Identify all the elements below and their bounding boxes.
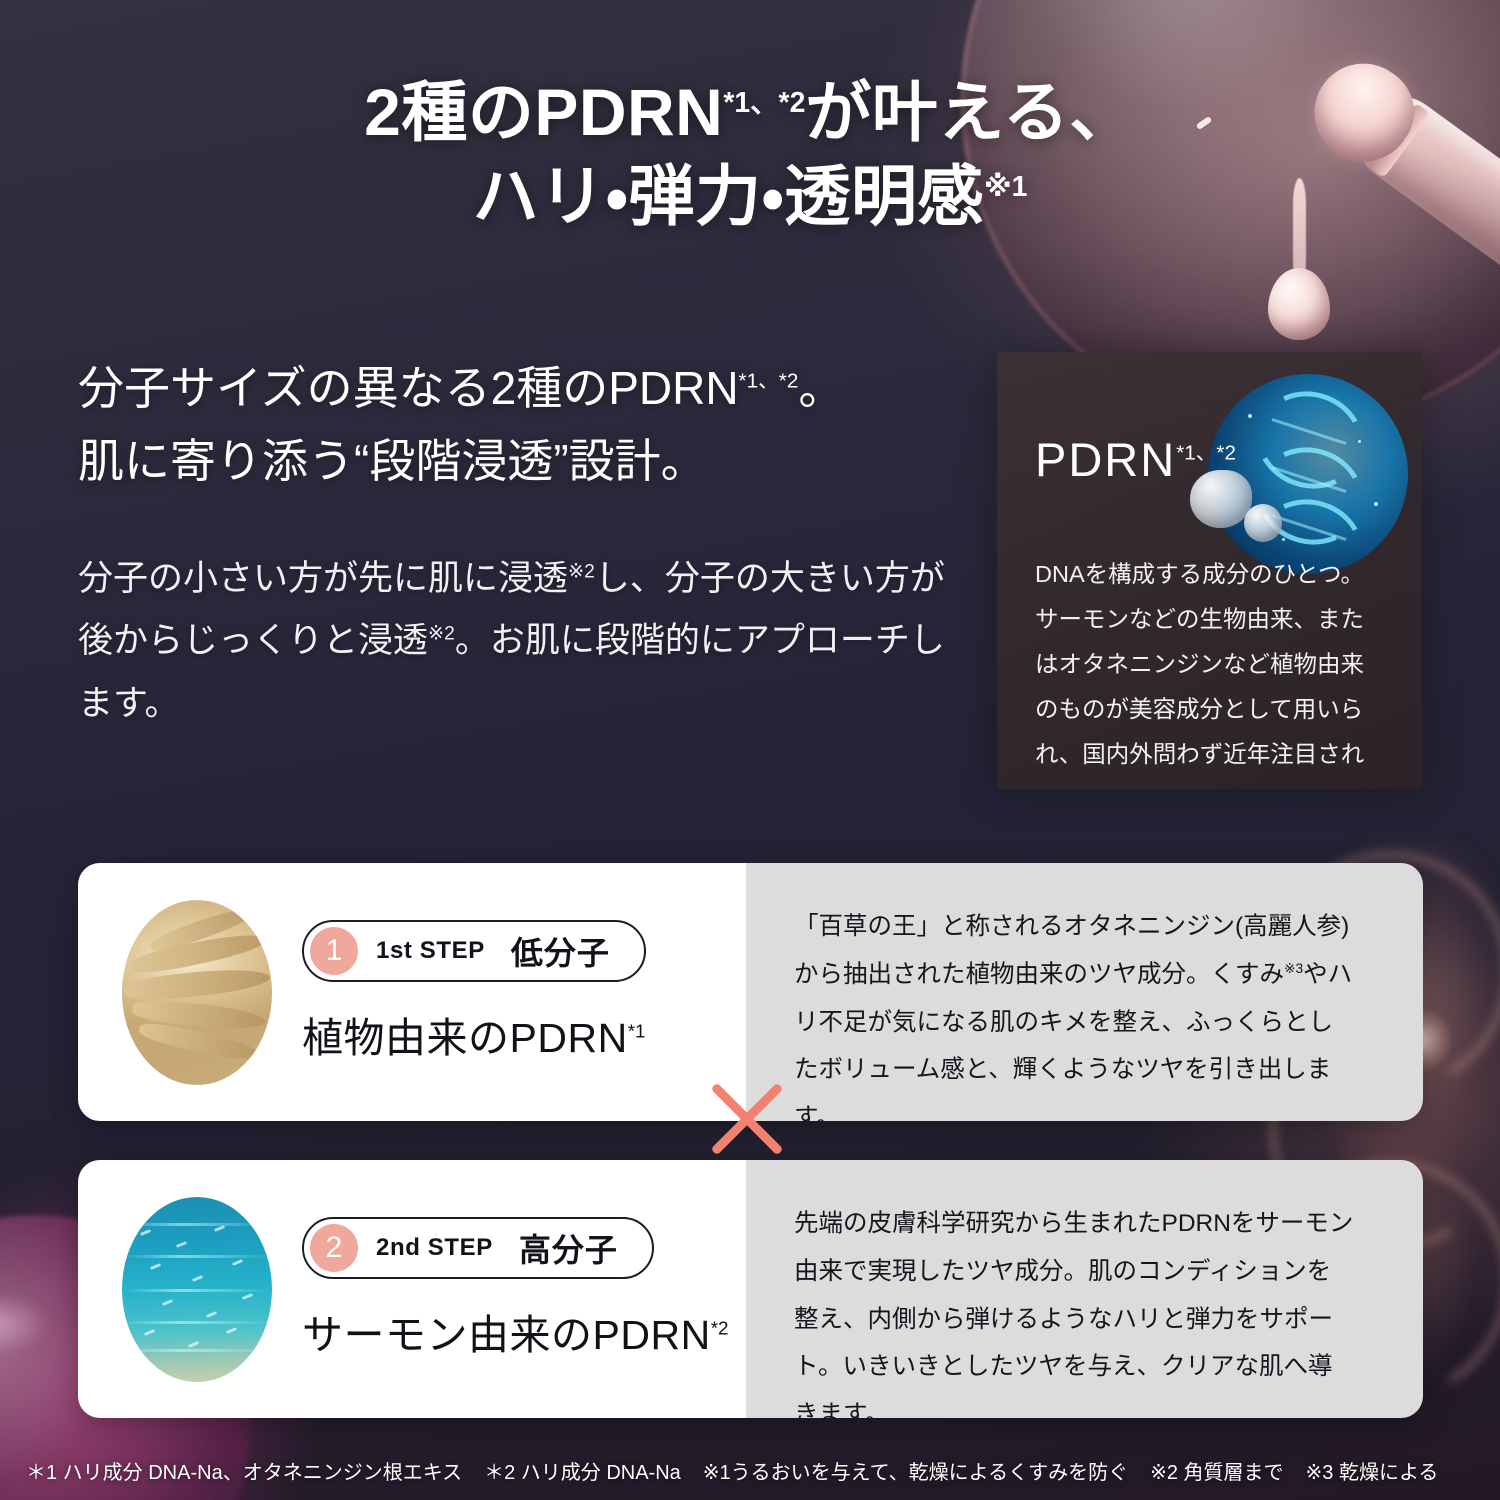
lead-line1-superscript: *1、*2 — [739, 370, 799, 393]
step-1-desc-sup1: ※3 — [1284, 961, 1303, 976]
magenta-sphere-highlight — [0, 1292, 50, 1356]
step-2-number-badge: 2 — [310, 1224, 358, 1272]
step-2-heading-text: サーモン由来のPDRN — [302, 1312, 711, 1358]
ad-poster: 2種のPDRN*1、*2が叶える、 ハリ・弾力・透明感※1 分子サイズの異なる2… — [0, 0, 1500, 1500]
pdrn-card-title: PDRN*1、*2 — [1035, 432, 1236, 487]
step-1-label-en: 1st STEP — [376, 937, 485, 965]
footnote-2: ＊2 ハリ成分 DNA-Na — [484, 1462, 681, 1484]
step-2-desc-seg1: 先端の皮膚科学研究から生まれたPDRNをサーモン由来で実現したツヤ成分。肌のコン… — [794, 1210, 1353, 1418]
lead-line2: 肌に寄り添う“段階浸透”設計。 — [78, 435, 707, 487]
body-paragraph: 分子の小さい方が先に肌に浸透※2し、分子の大きい方が後からじっくりと浸透※2。お… — [78, 548, 958, 735]
headline-line2-superscript: ※1 — [984, 171, 1027, 203]
lead-line1-a: 分子サイズの異なる2種のPDRN — [78, 362, 739, 414]
lead-subheading: 分子サイズの異なる2種のPDRN*1、*2。 肌に寄り添う“段階浸透”設計。 — [78, 352, 958, 497]
step-1-heading-superscript: *1 — [628, 1020, 646, 1041]
pdrn-title-superscript: *1、*2 — [1176, 441, 1236, 464]
step-card-1-right: 「百草の王」と称されるオタネニンジン(高麗人参)から抽出された植物由来のツヤ成分… — [746, 863, 1423, 1121]
pdrn-card-description: DNAを構成する成分のひとつ。サーモンなどの生物由来、またはオタネニンジンなど植… — [1035, 552, 1387, 789]
body-sup2: ※2 — [428, 624, 455, 645]
footnote-5: ※3 乾燥による — [1306, 1462, 1439, 1484]
step-card-2-left: 2 2nd STEP 高分子 サーモン由来のPDRN*2 — [78, 1160, 746, 1418]
step-2-label-jp: 高分子 — [519, 1225, 618, 1271]
step-1-number-badge: 1 — [310, 927, 358, 975]
cross-mark-icon — [700, 1072, 794, 1166]
step-card-1-left: 1 1st STEP 低分子 植物由来のPDRN*1 — [78, 863, 746, 1121]
step-card-1-text: 1 1st STEP 低分子 植物由来のPDRN*1 — [302, 920, 646, 1064]
footnote-4: ※2 角質層まで — [1150, 1462, 1283, 1484]
lead-line1-b: 。 — [798, 362, 844, 414]
step-1-description: 「百草の王」と称されるオタネニンジン(高麗人参)から抽出された植物由来のツヤ成分… — [794, 903, 1354, 1121]
footnote-row: ＊1 ハリ成分 DNA-Na、オタネニンジン根エキス＊2 ハリ成分 DNA-Na… — [26, 1456, 1476, 1485]
step-card-2-text: 2 2nd STEP 高分子 サーモン由来のPDRN*2 — [302, 1217, 729, 1361]
step-2-pill: 2 2nd STEP 高分子 — [302, 1217, 654, 1279]
headline-line1-a: 2種のPDRN — [364, 75, 723, 149]
step-1-desc-seg1: 「百草の王」と称されるオタネニンジン(高麗人参)から抽出された植物由来のツヤ成分… — [794, 913, 1349, 988]
pdrn-title-text: PDRN — [1035, 433, 1176, 486]
page-headline: 2種のPDRN*1、*2が叶える、 ハリ・弾力・透明感※1 — [0, 70, 1500, 239]
serum-droplet-icon — [1268, 268, 1330, 340]
step-1-label-jp: 低分子 — [511, 928, 610, 974]
step-2-label-en: 2nd STEP — [376, 1234, 493, 1262]
step-1-heading-text: 植物由来のPDRN — [302, 1015, 628, 1061]
step-card-2-right: 先端の皮膚科学研究から生まれたPDRNをサーモン由来で実現したツヤ成分。肌のコン… — [746, 1160, 1423, 1418]
step-2-description: 先端の皮膚科学研究から生まれたPDRNをサーモン由来で実現したツヤ成分。肌のコン… — [794, 1200, 1354, 1418]
bubble-small-icon — [1244, 504, 1282, 542]
step-1-pill: 1 1st STEP 低分子 — [302, 920, 646, 982]
step-2-heading: サーモン由来のPDRN*2 — [302, 1301, 729, 1361]
body-sup1: ※2 — [568, 561, 595, 582]
ginseng-root-photo — [122, 900, 272, 1085]
headline-line1-b: が叶える、 — [805, 75, 1136, 149]
step-card-2: 2 2nd STEP 高分子 サーモン由来のPDRN*2 先端の皮膚科学研究から… — [78, 1160, 1423, 1418]
headline-line1-superscript: *1、*2 — [723, 87, 805, 119]
pdrn-info-card: PDRN*1、*2 DNAを構成する成分のひとつ。サーモンなどの生物由来、または… — [997, 352, 1422, 789]
footnote-1: ＊1 ハリ成分 DNA-Na、オタネニンジン根エキス — [26, 1462, 462, 1484]
step-2-heading-superscript: *2 — [711, 1317, 729, 1338]
footnote-3: ※1うるおいを与えて、乾燥によるくすみを防ぐ — [703, 1462, 1128, 1484]
body-seg1: 分子の小さい方が先に肌に浸透 — [78, 559, 568, 598]
headline-line2-a: ハリ・弾力・透明感 — [473, 159, 984, 233]
underwater-fish-school-photo — [122, 1197, 272, 1382]
step-1-heading: 植物由来のPDRN*1 — [302, 1004, 646, 1064]
